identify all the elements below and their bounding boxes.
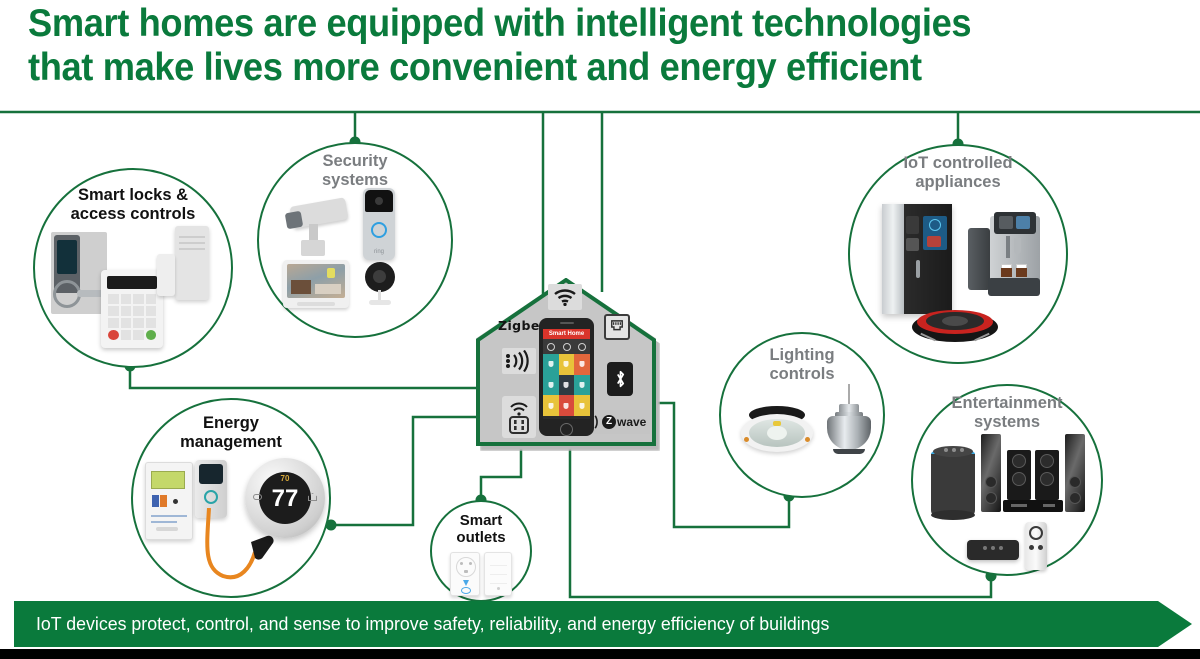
keypad-door-lock-icon xyxy=(51,232,107,314)
remote-control-icon xyxy=(1025,522,1047,570)
node-security-systems[interactable]: Security systems ring xyxy=(257,142,453,338)
slide-canvas: Smart homes are equipped with intelligen… xyxy=(0,0,1200,659)
thermostat-ambient: 70 xyxy=(245,474,325,483)
phone-tile xyxy=(543,375,559,396)
wire-smart-locks xyxy=(130,366,480,388)
node-lighting-label-1: Lighting xyxy=(769,346,834,364)
node-entertainment-label-1: Entertainment xyxy=(952,394,1063,412)
zwave-logo-icon: Z wave xyxy=(588,410,650,434)
smart-speaker-icon xyxy=(931,448,975,522)
wire-smart-outlets xyxy=(481,446,521,500)
node-entertainment-systems[interactable]: Entertainment systems xyxy=(911,384,1103,576)
phone-tile xyxy=(574,354,590,375)
smart-display-icon xyxy=(283,260,349,308)
node-smart-locks-label-1: Smart locks & xyxy=(78,186,188,204)
media-box-icon xyxy=(967,540,1019,560)
smart-wall-socket-icon xyxy=(450,552,480,596)
node-entertainment-label-2: systems xyxy=(974,413,1040,431)
smart-home-hub[interactable]: Zigbee xyxy=(476,278,656,446)
smart-outlet-wifi-icon xyxy=(502,396,536,438)
bluetooth-icon xyxy=(607,362,633,396)
node-security-label-1: Security xyxy=(322,152,387,170)
phone-tile xyxy=(574,375,590,396)
node-smart-outlets[interactable]: Smart outlets xyxy=(430,500,532,602)
phone-home-button[interactable] xyxy=(560,423,573,436)
node-smart-locks-label-2: access controls xyxy=(71,205,196,223)
video-doorbell-icon: ring xyxy=(363,188,395,260)
door-window-sensor-icon xyxy=(153,226,211,306)
smart-refrigerator-icon xyxy=(882,204,952,314)
phone-top-icon-1 xyxy=(543,339,559,354)
zwave-mark: Z xyxy=(602,415,616,429)
summary-banner: IoT devices protect, control, and sense … xyxy=(14,601,1192,647)
node-iot-appliances-label-2: appliances xyxy=(915,173,1000,191)
zwave-label: wave xyxy=(617,415,646,429)
node-iot-appliances-label-1: IoT controlled xyxy=(903,154,1012,172)
cctv-camera-icon xyxy=(283,198,353,264)
indoor-camera-icon xyxy=(359,262,401,308)
phone-top-icon-3 xyxy=(574,339,590,354)
phone-tile xyxy=(559,375,575,396)
bottom-black-bar xyxy=(0,649,1200,659)
phone-tile xyxy=(574,395,590,416)
smart-meter-icon xyxy=(145,462,193,540)
pendant-lamp-icon xyxy=(825,384,873,458)
phone-tile xyxy=(559,354,575,375)
phone-tile-grid xyxy=(543,354,590,416)
node-smart-outlets-label-1: Smart xyxy=(460,512,503,529)
node-iot-appliances[interactable]: IoT controlled appliances xyxy=(848,144,1068,364)
ethernet-port-icon xyxy=(604,314,630,340)
phone-app-title: Smart Home xyxy=(543,329,590,339)
node-security-label-2: systems xyxy=(322,171,388,189)
smart-light-switch-icon xyxy=(484,552,512,596)
phone-screen: Smart Home xyxy=(543,329,590,419)
espresso-machine-icon xyxy=(968,212,1040,304)
home-theater-speakers-icon xyxy=(981,434,1085,520)
smart-thermostat-icon: 70 77 xyxy=(245,458,325,538)
rf-antenna-icon xyxy=(502,348,536,374)
node-smart-locks[interactable]: Smart locks & access controls xyxy=(33,168,233,368)
led-downlight-icon xyxy=(741,406,813,454)
node-energy-label-1: Energy xyxy=(203,414,259,432)
phone-top-icon-2 xyxy=(559,339,575,354)
phone-top-icon-row xyxy=(543,339,590,354)
node-energy-label-2: management xyxy=(180,433,282,451)
node-lighting-label-2: controls xyxy=(769,365,834,383)
node-energy-management[interactable]: Energy management 70 77 xyxy=(131,398,331,598)
phone-tile xyxy=(543,354,559,375)
phone-tile xyxy=(559,395,575,416)
banner-text: IoT devices protect, control, and sense … xyxy=(36,601,829,647)
wifi-icon xyxy=(548,284,582,310)
smart-home-phone[interactable]: Smart Home xyxy=(539,318,594,436)
node-lighting-controls[interactable]: Lighting controls xyxy=(719,332,885,498)
robot-vacuum-icon xyxy=(912,308,998,346)
node-smart-outlets-label-2: outlets xyxy=(456,529,505,546)
phone-speaker xyxy=(560,322,574,324)
phone-tile xyxy=(543,395,559,416)
